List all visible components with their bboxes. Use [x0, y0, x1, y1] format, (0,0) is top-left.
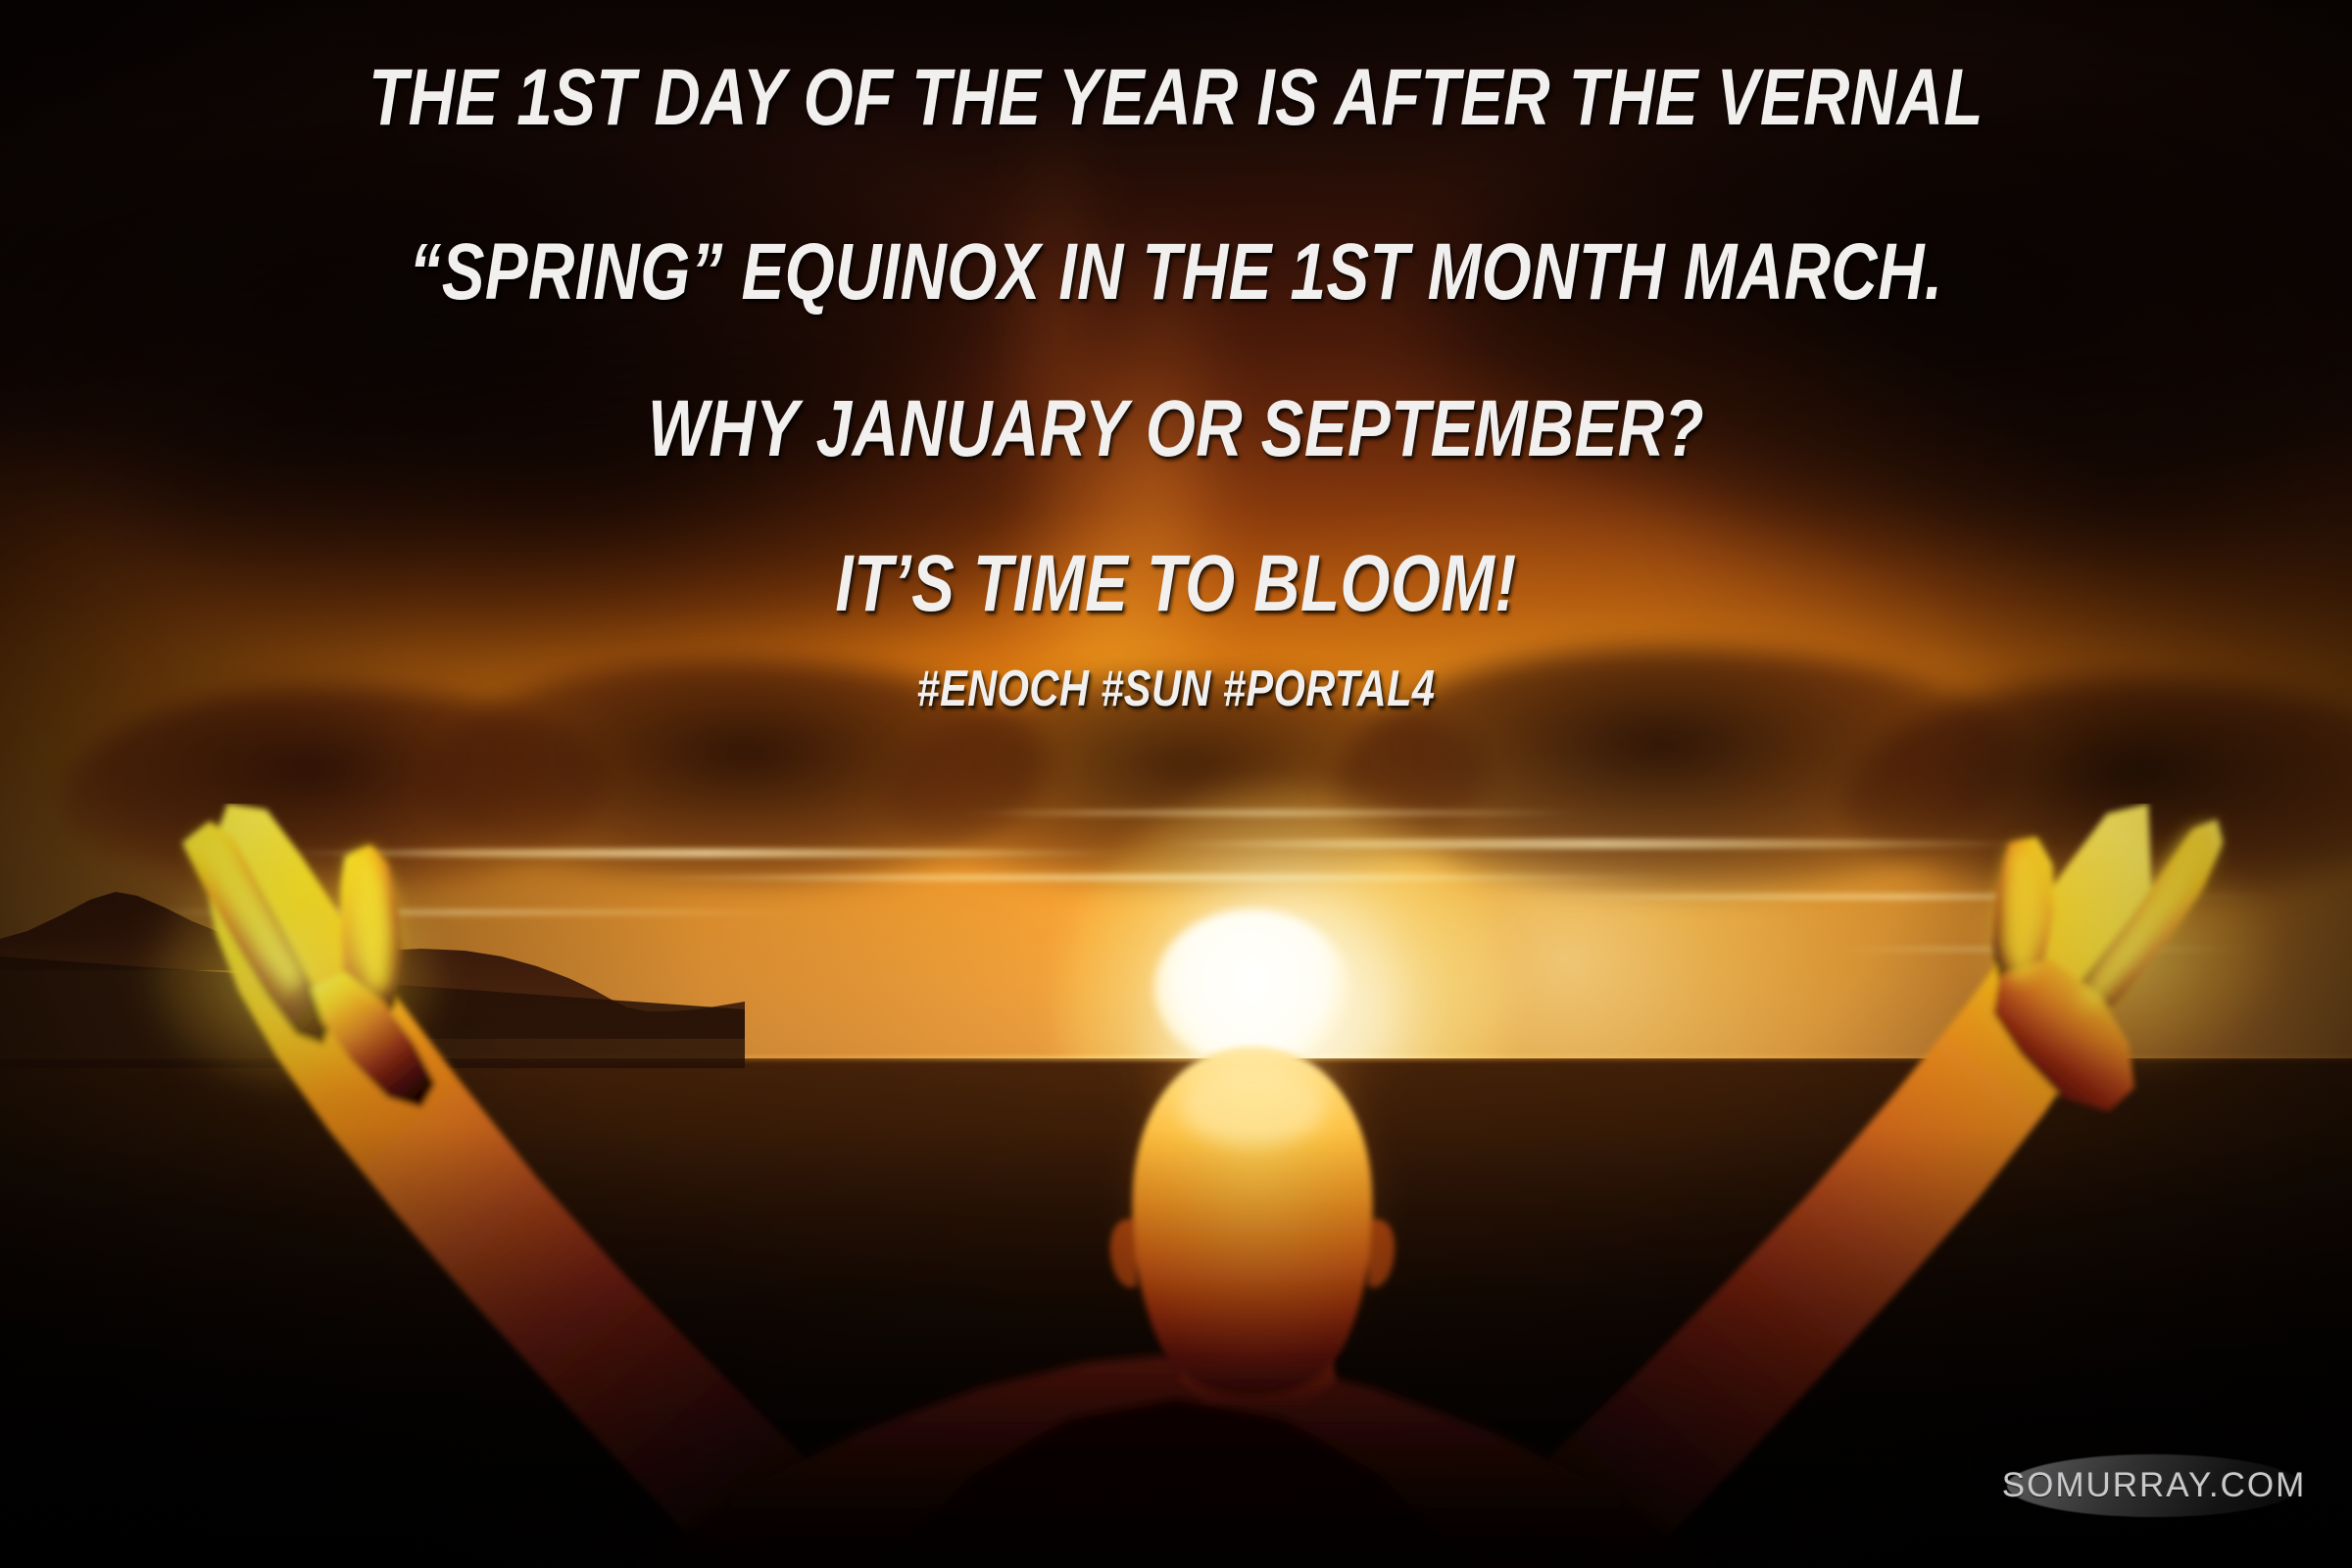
cloud-streak-1	[274, 849, 1137, 857]
sun-reflection-on-water	[1098, 1039, 1411, 1274]
cloud-streak-3	[1156, 839, 2038, 849]
ocean-shading	[0, 1058, 2352, 1568]
cloud-streak-7	[960, 809, 1588, 816]
watermark: SOMURRAY.COM	[2007, 1454, 2301, 1517]
mountain-headland-silhouette	[0, 862, 745, 1068]
cloud-streak-4	[1529, 894, 2274, 900]
caption-line-1: THE 1ST DAY OF THE YEAR IS AFTER THE VER…	[235, 51, 2117, 145]
horizon-line	[0, 1056, 2352, 1060]
cloud-streak-5	[118, 909, 804, 915]
caption-hashtags: #ENOCH #SUN #PORTAL4	[235, 659, 2117, 719]
sky-horizontal-shading	[0, 0, 2352, 1068]
sun-halo	[1058, 784, 1509, 1235]
caption-line-4: IT’S TIME TO BLOOM!	[235, 537, 2117, 631]
head-rim-glow	[1127, 1068, 1382, 1362]
sky-gradient	[0, 0, 2352, 1068]
cloud-streak-6	[1833, 947, 2254, 952]
watermark-text: SOMURRAY.COM	[2002, 1466, 2307, 1505]
bottom-vignette	[0, 1127, 2352, 1568]
caption-line-3: WHY JANUARY OR SEPTEMBER?	[235, 382, 2117, 476]
cloud-streak-2	[608, 874, 1686, 881]
sun-disc	[1154, 909, 1348, 1066]
left-hand-glow	[147, 862, 441, 1088]
sunrise-quote-image: THE 1ST DAY OF THE YEAR IS AFTER THE VER…	[0, 0, 2352, 1568]
ocean	[0, 1058, 2352, 1568]
caption-line-2: “SPRING” EQUINOX IN THE 1ST MONTH MARCH.	[235, 225, 2117, 319]
right-hand-glow	[1980, 843, 2274, 1068]
raised-arms-figure-silhouette	[0, 804, 2352, 1568]
